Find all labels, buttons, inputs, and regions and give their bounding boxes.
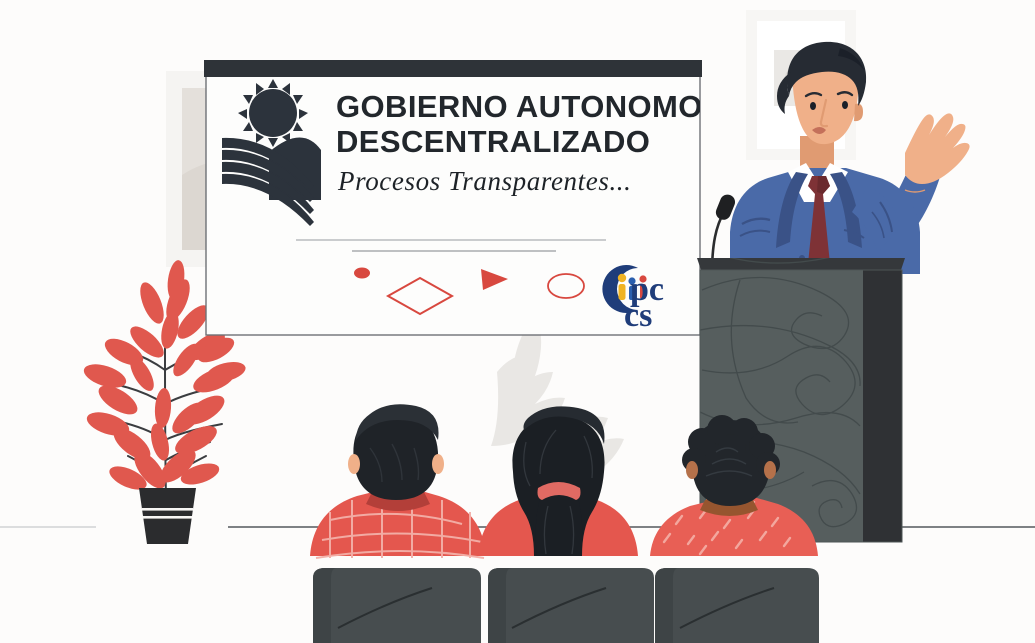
chair-1 (313, 568, 481, 643)
slide-heading-line2: DESCENTRALIZADO (336, 124, 650, 159)
plant-pot (139, 488, 196, 544)
presentation-screen[interactable]: GOBIERNO AUTONOMO DESCENTRALIZADO Proces… (204, 60, 703, 335)
cpccs-line-2: cs (624, 297, 652, 334)
slide-tagline: Procesos Transparentes... (337, 166, 632, 196)
shape-dot (354, 268, 370, 279)
slide-heading-line1: GOBIERNO AUTONOMO (336, 89, 703, 124)
screen-top-bar (204, 60, 702, 77)
chair-2 (488, 568, 654, 643)
presentation-scene: GOBIERNO AUTONOMO DESCENTRALIZADO Proces… (0, 0, 1035, 643)
chair-3 (655, 568, 819, 643)
audience-chairs (313, 568, 819, 643)
podium-side-panel (863, 270, 902, 542)
illustration-canvas: GOBIERNO AUTONOMO DESCENTRALIZADO Proces… (0, 0, 1035, 643)
